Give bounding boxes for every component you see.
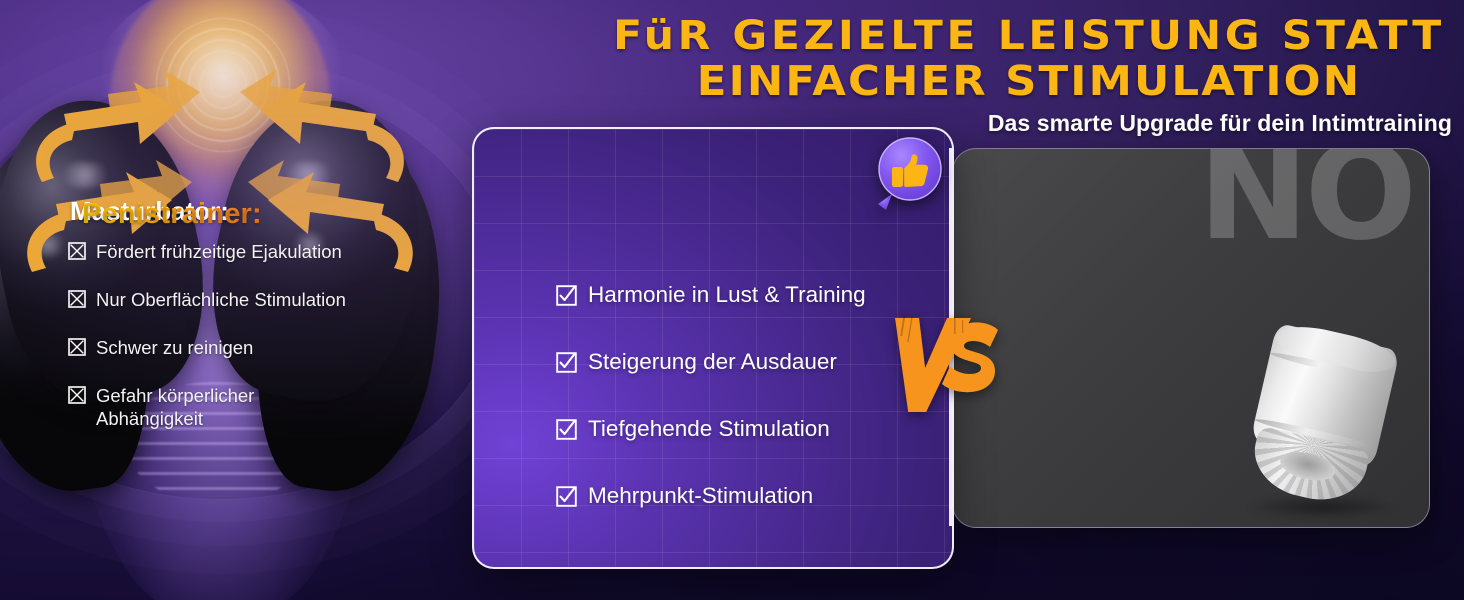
- list-item: Mehrpunkt-Stimulation: [556, 483, 956, 509]
- list-item-label: Nur Oberflächliche Stimulation: [96, 288, 346, 311]
- product-cylinder: [1244, 323, 1400, 496]
- list-item: Fördert frühzeitige Ejakulation: [68, 240, 398, 263]
- list-item-label: Tiefgehende Stimulation: [588, 416, 830, 442]
- list-item-label: Harmonie in Lust & Training: [588, 282, 866, 308]
- list-item: Nur Oberflächliche Stimulation: [68, 288, 398, 311]
- list-item-label: Gefahr körperlicher Abhängigkeit: [96, 384, 296, 430]
- versus-badge: [890, 312, 1010, 418]
- banner-root: FüR GEZIELTE LEISTUNG STATT EINFACHER ST…: [0, 0, 1464, 600]
- crossed-box-icon: [68, 290, 86, 308]
- checked-box-icon: [556, 419, 577, 440]
- crossed-box-icon: [68, 386, 86, 404]
- list-item-label: Fördert frühzeitige Ejakulation: [96, 240, 342, 263]
- masturbator-card: NO: [952, 148, 1430, 528]
- no-watermark: NO: [1198, 148, 1413, 259]
- checked-box-icon: [556, 352, 577, 373]
- checked-box-icon: [556, 486, 577, 507]
- thumbs-up-badge: [872, 136, 946, 216]
- list-item: Tiefgehende Stimulation: [556, 416, 956, 442]
- list-item: Gefahr körperlicher Abhängigkeit: [68, 384, 398, 430]
- headline-line-1: FüR GEZIELTE LEISTUNG STATT: [574, 14, 1464, 59]
- masturbator-product-photo: [1233, 319, 1423, 528]
- headline-block: FüR GEZIELTE LEISTUNG STATT EINFACHER ST…: [600, 14, 1458, 137]
- list-item-label: Mehrpunkt-Stimulation: [588, 483, 813, 509]
- list-item-label: Schwer zu reinigen: [96, 336, 253, 359]
- crossed-box-icon: [68, 242, 86, 260]
- headline-line-2: EINFACHER STIMULATION: [574, 59, 1464, 104]
- checked-box-icon: [556, 285, 577, 306]
- crossed-box-icon: [68, 338, 86, 356]
- masturbator-feature-list: Fördert frühzeitige Ejakulation Nur Ober…: [68, 240, 398, 455]
- list-item: Harmonie in Lust & Training: [556, 282, 956, 308]
- list-item: Schwer zu reinigen: [68, 336, 398, 359]
- penistrainer-card-title: Penistrainer:: [82, 198, 262, 231]
- list-item-label: Steigerung der Ausdauer: [588, 349, 837, 375]
